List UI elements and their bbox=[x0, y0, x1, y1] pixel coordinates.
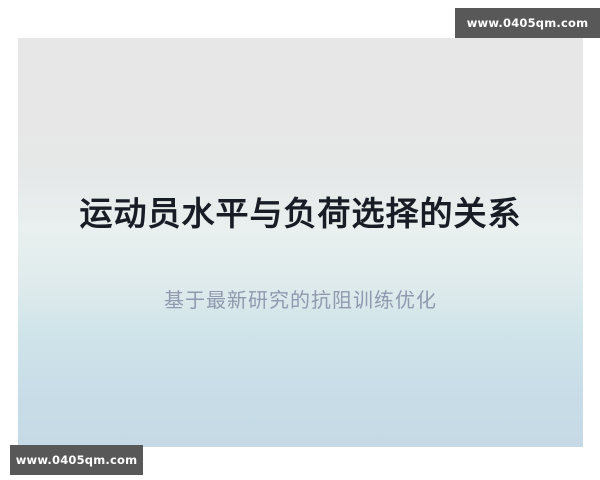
watermark-bottom-left-text: www.0405qm.com bbox=[16, 453, 138, 467]
watermark-badge-top-right: www.0405qm.com bbox=[455, 8, 600, 38]
slide-subtitle: 基于最新研究的抗阻训练优化 bbox=[18, 286, 583, 314]
slide-title: 运动员水平与负荷选择的关系 bbox=[18, 193, 583, 235]
screenshot-page: 运动员水平与负荷选择的关系 基于最新研究的抗阻训练优化 www.0405qm.c… bbox=[0, 0, 600, 480]
watermark-top-right-text: www.0405qm.com bbox=[467, 16, 589, 30]
slide-content-area: 运动员水平与负荷选择的关系 基于最新研究的抗阻训练优化 bbox=[18, 38, 583, 447]
presentation-slide: 运动员水平与负荷选择的关系 基于最新研究的抗阻训练优化 bbox=[18, 38, 583, 447]
watermark-badge-bottom-left: www.0405qm.com bbox=[10, 445, 143, 475]
